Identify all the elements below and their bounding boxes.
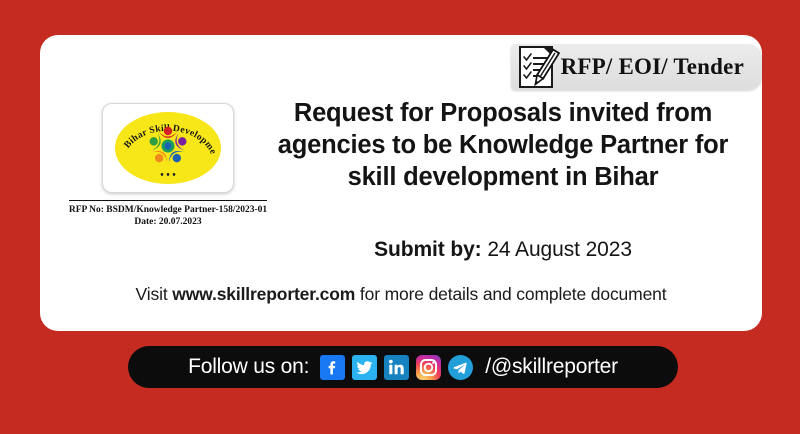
rfp-number: RFP No: BSDM/Knowledge Partner-158/2023-… — [69, 204, 267, 216]
bihar-skill-development-mission-logo: Bihar Skill Development Mission — [102, 103, 234, 193]
follow-us-label: Follow us on: — [188, 355, 309, 379]
logo-dots: • • • — [160, 170, 176, 181]
follow-us-bar: Follow us on: — [128, 346, 678, 388]
clipboard-checklist-pencil-icon — [519, 44, 561, 90]
visit-suffix: for more details and complete document — [355, 284, 666, 304]
twitter-icon[interactable] — [352, 355, 377, 380]
page-title: Request for Proposals invited from agenc… — [268, 97, 738, 193]
announcement-card: RFP/ EOI/ Tender Bihar Skill Development… — [40, 35, 762, 331]
linkedin-icon[interactable] — [384, 355, 409, 380]
visit-prefix: Visit — [136, 284, 173, 304]
visit-website-line: Visit www.skillreporter.com for more det… — [40, 284, 762, 305]
submit-by-label: Submit by: — [374, 238, 482, 261]
rfp-eoi-tender-badge: RFP/ EOI/ Tender — [511, 44, 762, 90]
facebook-icon[interactable] — [320, 355, 345, 380]
submit-by-date: 24 August 2023 — [487, 238, 632, 261]
rfp-reference: RFP No: BSDM/Knowledge Partner-158/2023-… — [69, 200, 267, 228]
social-handle: /@skillreporter — [485, 355, 618, 379]
headline-line-2: agencies to be Knowledge Partner for — [268, 129, 738, 161]
poster-canvas: RFP/ EOI/ Tender Bihar Skill Development… — [0, 0, 800, 434]
website-link[interactable]: www.skillreporter.com — [172, 284, 355, 304]
badge-label: RFP/ EOI/ Tender — [561, 54, 744, 80]
headline-line-1: Request for Proposals invited from — [268, 97, 738, 129]
submit-deadline: Submit by: 24 August 2023 — [268, 238, 738, 262]
headline-line-3: skill development in Bihar — [268, 161, 738, 193]
telegram-icon[interactable] — [448, 355, 473, 380]
instagram-icon[interactable] — [416, 355, 441, 380]
reference-block: Bihar Skill Development Mission — [62, 103, 274, 229]
rfp-date: Date: 20.07.2023 — [69, 216, 267, 228]
